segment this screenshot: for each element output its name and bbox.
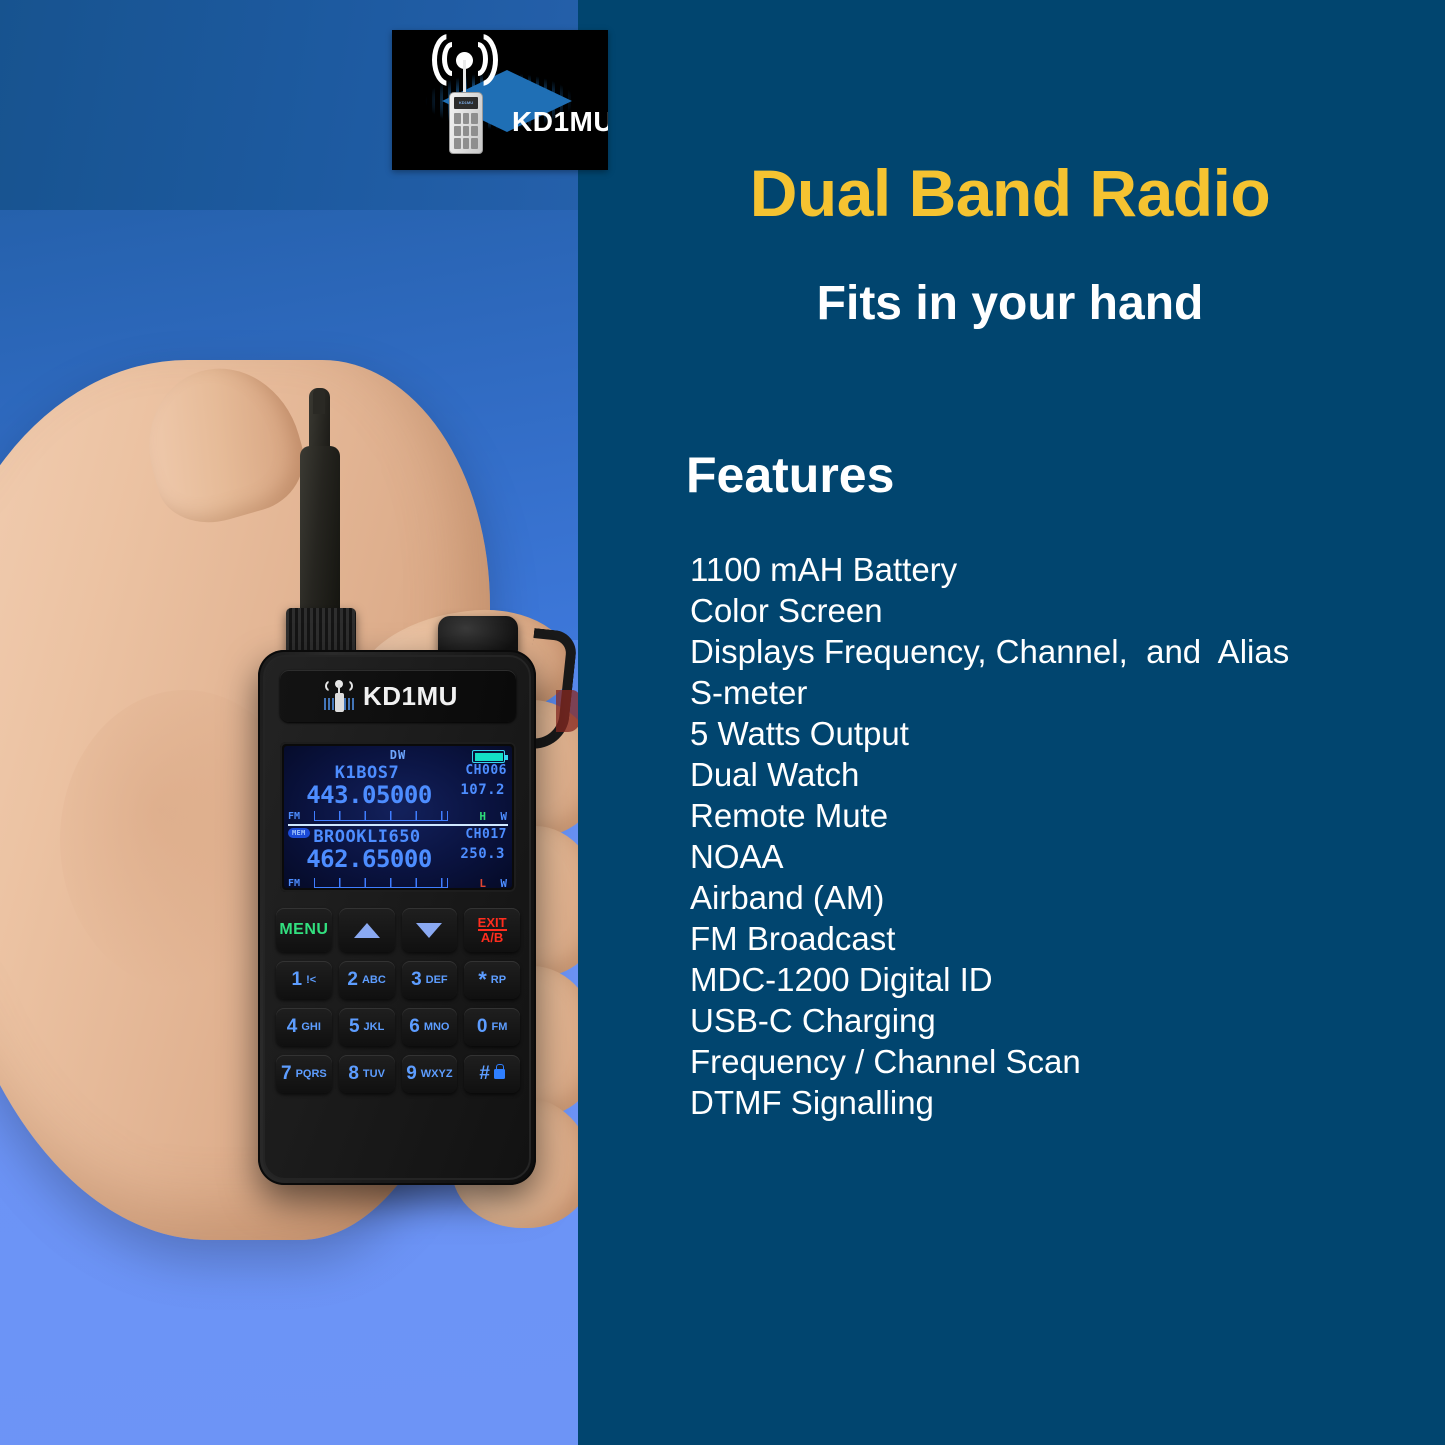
lcd-vfo-b: MEM BROOKLI650 462.65000 CH017 250.3 FM …: [284, 827, 512, 888]
key-7[interactable]: 7PQRS: [276, 1055, 332, 1093]
key-down[interactable]: [402, 908, 458, 952]
battery-icon: [472, 750, 505, 763]
feature-item: Dual Watch: [690, 754, 1430, 795]
antenna-knurled-base: [286, 608, 356, 656]
key-2[interactable]: 2ABC: [339, 961, 395, 999]
lcd-bezel: DW K1BOS7 443.05000 CH006 107.2 FM H W: [280, 742, 516, 892]
key-menu[interactable]: MENU: [276, 908, 332, 952]
key-8[interactable]: 8TUV: [339, 1055, 395, 1093]
down-arrow-icon: [416, 923, 442, 938]
feature-item: 1100 mAH Battery: [690, 549, 1430, 590]
keypad-row-1: 1!< 2ABC 3DEF *RP: [276, 961, 520, 999]
lcd-vfo-b-bandwidth: W: [500, 877, 507, 888]
brand-logo-badge: KD1MU KD1MU: [392, 30, 608, 170]
lcd-vfo-a: K1BOS7 443.05000 CH006 107.2 FM H W: [284, 763, 512, 824]
page-subtitle: Fits in your hand: [600, 276, 1420, 331]
up-arrow-icon: [354, 923, 380, 938]
key-star[interactable]: *RP: [464, 961, 520, 999]
key-5[interactable]: 5JKL: [339, 1008, 395, 1046]
lock-icon: [494, 1069, 505, 1079]
key-up[interactable]: [339, 908, 395, 952]
antenna-body: [300, 446, 340, 618]
lcd-vfo-b-alias: BROOKLI650: [284, 827, 450, 847]
radio-callsign-text: KD1MU: [363, 681, 458, 712]
feature-item: Airband (AM): [690, 877, 1430, 918]
lcd-vfo-a-bandwidth: W: [500, 810, 507, 823]
strap-red-accent: [556, 690, 578, 732]
feature-item: DTMF Signalling: [690, 1082, 1430, 1123]
keypad-row-2: 4GHI 5JKL 6MNO 0FM: [276, 1008, 520, 1046]
product-photo: KD1MU DW K1BOS7 443.05000 CH006 107.2 FM: [0, 0, 578, 1445]
features-list: 1100 mAH BatteryColor ScreenDisplays Fre…: [690, 549, 1430, 1123]
logo-radio-icon: KD1MU: [449, 92, 483, 154]
radio-keypad: MENU EXIT A/B: [276, 908, 520, 1102]
keypad-row-3: 7PQRS 8TUV 9WXYZ #: [276, 1055, 520, 1093]
lcd-vfo-b-frequency: 462.65000: [284, 845, 454, 873]
keypad-row-function: MENU EXIT A/B: [276, 908, 520, 952]
lcd-vfo-a-modulation: FM: [288, 811, 300, 822]
lcd-vfo-b-channel: CH017: [465, 827, 507, 842]
feature-item: MDC-1200 Digital ID: [690, 959, 1430, 1000]
key-0[interactable]: 0FM: [464, 1008, 520, 1046]
lcd-vfo-a-alias: K1BOS7: [284, 763, 450, 783]
key-6[interactable]: 6MNO: [402, 1008, 458, 1046]
lcd-vfo-b-smeter: [314, 878, 448, 888]
logo-callsign-text: KD1MU: [512, 106, 608, 138]
feature-item: Displays Frequency, Channel, and Alias: [690, 631, 1430, 672]
feature-item: Remote Mute: [690, 795, 1430, 836]
feature-item: FM Broadcast: [690, 918, 1430, 959]
key-exit-ab[interactable]: EXIT A/B: [464, 908, 520, 952]
lcd-vfo-a-frequency: 443.05000: [284, 781, 454, 809]
lcd-vfo-b-power: L: [479, 877, 486, 888]
handheld-radio: KD1MU DW K1BOS7 443.05000 CH006 107.2 FM: [258, 650, 536, 1185]
lcd-vfo-b-modulation: FM: [288, 878, 300, 888]
feature-item: S-meter: [690, 672, 1430, 713]
feature-item: USB-C Charging: [690, 1000, 1430, 1041]
radio-antenna-icon: [324, 679, 354, 713]
lcd-vfo-b-tone: 250.3: [460, 846, 505, 862]
lcd-vfo-a-power: H: [479, 810, 486, 823]
star-icon: *: [478, 971, 487, 989]
promo-graphic: KD1MU DW K1BOS7 443.05000 CH006 107.2 FM: [0, 0, 1445, 1445]
lcd-divider: [288, 824, 508, 826]
key-4[interactable]: 4GHI: [276, 1008, 332, 1046]
logo-antenna-icon: [463, 60, 466, 94]
page-title: Dual Band Radio: [600, 155, 1420, 231]
features-heading: Features: [686, 446, 894, 504]
lcd-vfo-a-tone: 107.2: [460, 782, 505, 798]
radio-callsign-label: KD1MU: [280, 670, 516, 722]
key-9[interactable]: 9WXYZ: [402, 1055, 458, 1093]
feature-item: 5 Watts Output: [690, 713, 1430, 754]
lcd-vfo-a-channel: CH006: [465, 763, 507, 778]
lcd-vfo-a-smeter: [314, 811, 448, 821]
feature-item: NOAA: [690, 836, 1430, 877]
key-hash-lock[interactable]: #: [464, 1055, 520, 1093]
feature-item: Color Screen: [690, 590, 1430, 631]
lcd-screen: DW K1BOS7 443.05000 CH006 107.2 FM H W: [284, 746, 512, 888]
key-1[interactable]: 1!<: [276, 961, 332, 999]
key-3[interactable]: 3DEF: [402, 961, 458, 999]
feature-item: Frequency / Channel Scan: [690, 1041, 1430, 1082]
antenna-tip-cap: [313, 388, 325, 414]
